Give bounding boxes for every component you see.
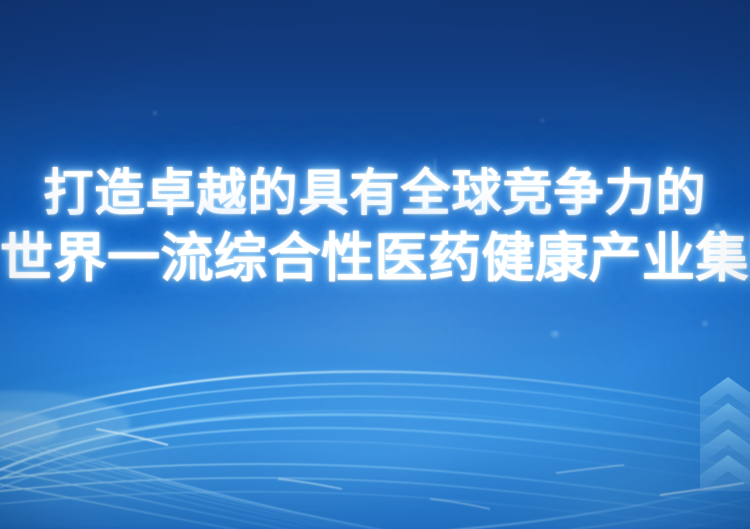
flare-core — [422, 172, 448, 198]
banner-hero: 打造卓越的具有全球竞争力的 世界一流综合性医药健康产业集团 — [0, 0, 750, 529]
sparkle-icon — [713, 222, 722, 231]
sparkle-icon — [540, 118, 545, 123]
upper-haze-glow — [0, 0, 750, 180]
sparkle-icon — [152, 110, 158, 116]
wave-streaks-graphic — [0, 289, 750, 529]
banner-headline: 打造卓越的具有全球竞争力的 世界一流综合性医药健康产业集团 — [0, 168, 750, 285]
flare-ray-diagonal-1 — [418, 168, 452, 202]
flare-ray-vertical — [434, 155, 436, 215]
headline-line-1: 打造卓越的具有全球竞争力的 — [0, 168, 750, 218]
flare-ray-diagonal-2 — [418, 168, 452, 202]
headline-line-2: 世界一流综合性医药健康产业集团 — [0, 232, 750, 285]
flare-ray-horizontal — [396, 184, 474, 186]
lens-flare-icon — [395, 145, 475, 225]
